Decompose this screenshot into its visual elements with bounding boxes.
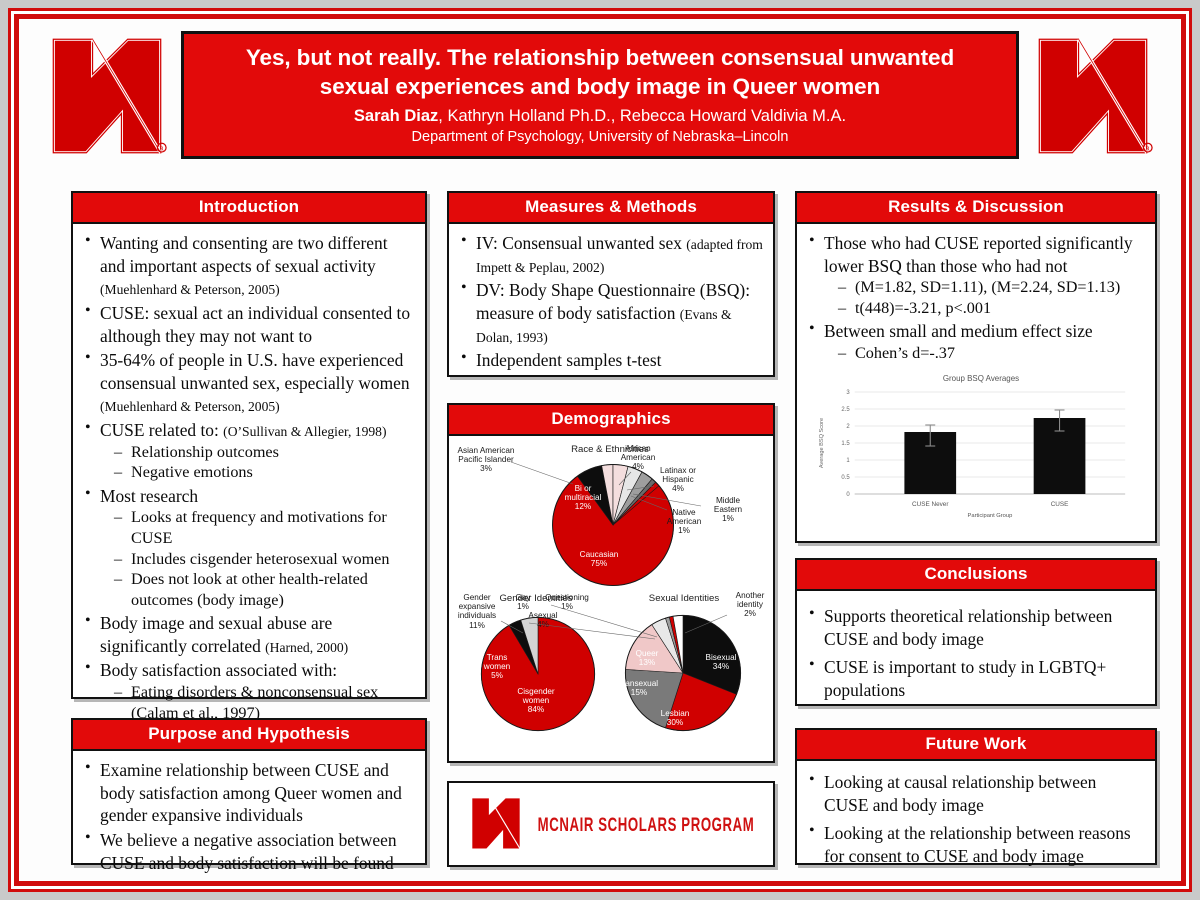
svg-text:3: 3: [846, 390, 850, 396]
poster-title-banner: Yes, but not really. The relationship be…: [181, 31, 1019, 159]
pie-label-questioning: Questioning1%: [541, 593, 593, 611]
list-item: Those who had CUSE reported significantl…: [805, 232, 1145, 318]
author-lead: Sarah Diaz: [354, 107, 438, 125]
panel-results-discussion: Results & Discussion Those who had CUSE …: [795, 191, 1157, 543]
list-item: Looking at causal relationship between C…: [805, 771, 1145, 816]
poster-inner-frame: R Yes, but not really. The relationship …: [14, 14, 1186, 886]
sub-list-item: t(448)=-3.21, p<.001: [838, 298, 1145, 319]
authors-rest: , Kathryn Holland Ph.D., Rebecca Howard …: [438, 107, 846, 125]
bullet-text: Body satisfaction associated with:: [100, 660, 337, 680]
introduction-heading: Introduction: [73, 193, 425, 224]
results-heading: Results & Discussion: [797, 193, 1155, 224]
panel-demographics: Demographics Race & Ethnicities: [447, 403, 775, 763]
pie-label-gender-expansive: Gender expansive individuals11%: [449, 593, 505, 630]
chart-title: Group BSQ Averages: [943, 374, 1019, 383]
list-item: CUSE is important to study in LGBTQ+ pop…: [805, 656, 1145, 701]
poster-department: Department of Psychology, University of …: [198, 128, 1002, 146]
citation: (O’Sullivan & Allegier, 1998): [223, 424, 386, 439]
demographics-heading: Demographics: [449, 405, 773, 436]
svg-text:1.5: 1.5: [841, 441, 850, 447]
conclusions-heading: Conclusions: [797, 560, 1155, 591]
sub-list: Relationship outcomes Negative emotions: [114, 442, 415, 483]
mcnair-program-text: MCNAIR SCHOLARS PROGRAM: [538, 813, 755, 835]
sub-list-item: Includes cisgender heterosexual women: [114, 549, 415, 570]
list-item: Examine relationship between CUSE and bo…: [81, 759, 415, 827]
chart-sexual-identities: Sexual Identities: [599, 591, 775, 746]
svg-text:0: 0: [846, 492, 850, 498]
panel-sponsor-logo: MCNAIR SCHOLARS PROGRAM: [447, 781, 775, 867]
purpose-list: Examine relationship between CUSE and bo…: [81, 759, 415, 874]
pie-label-bisexual: Bisexual34%: [699, 653, 743, 671]
sub-list-item: Relationship outcomes: [114, 442, 415, 463]
sub-list: Looks at frequency and motivations for C…: [114, 507, 415, 610]
measures-list: IV: Consensual unwanted sex (adapted fro…: [457, 232, 763, 372]
conclusions-list: Supports theoretical relationship betwee…: [805, 605, 1145, 702]
poster-header: R Yes, but not really. The relationship …: [23, 31, 1177, 179]
list-item: Independent samples t-test: [457, 349, 763, 372]
pie-label-latinax: Latinax or Hispanic4%: [645, 466, 711, 494]
bullet-text: Wanting and consenting are two different…: [100, 233, 388, 276]
pie-label-gay: Gay1%: [503, 593, 543, 611]
svg-text:1: 1: [846, 458, 850, 464]
poster-canvas: R Yes, but not really. The relationship …: [23, 23, 1177, 877]
list-item: CUSE: sexual act an individual consented…: [81, 302, 415, 347]
pie-label-trans-women: Trans women5%: [473, 653, 521, 681]
nebraska-n-logo-right: R: [1031, 33, 1155, 159]
bar-chart-svg: Group BSQ Averages 3 2.5 2 1.5: [797, 368, 1155, 520]
pie-label-another-identity: Another identity2%: [727, 591, 773, 619]
list-item: Body image and sexual abuse are signific…: [81, 612, 415, 657]
future-work-heading: Future Work: [797, 730, 1155, 761]
pie-label-queer: Queer13%: [627, 649, 667, 667]
conclusions-body: Supports theoretical relationship betwee…: [797, 591, 1155, 712]
pie-label-asian-api: Asian American Pacific Islander3%: [455, 446, 517, 474]
results-list: Those who had CUSE reported significantl…: [805, 232, 1145, 364]
bullet-text: CUSE related to:: [100, 420, 223, 440]
panel-future-work: Future Work Looking at causal relationsh…: [795, 728, 1157, 865]
future-work-body: Looking at causal relationship between C…: [797, 761, 1155, 878]
bullet-text: Those who had CUSE reported significantl…: [824, 233, 1133, 276]
list-item: Supports theoretical relationship betwee…: [805, 605, 1145, 650]
chart-group-bsq-averages: Group BSQ Averages 3 2.5 2 1.5: [797, 368, 1155, 520]
sub-list: Cohen’s d=-.37: [838, 343, 1145, 364]
sub-list-item: Cohen’s d=-.37: [838, 343, 1145, 364]
list-item: Body satisfaction associated with: Eatin…: [81, 659, 415, 723]
pie-label-bi-multiracial: Bi or multiracial12%: [561, 484, 605, 512]
svg-text:Average BSQ Score: Average BSQ Score: [819, 417, 825, 467]
poster-authors: Sarah Diaz, Kathryn Holland Ph.D., Rebec…: [198, 106, 1002, 127]
svg-text:2.5: 2.5: [841, 407, 850, 413]
bullet-text: Independent samples t-test: [476, 350, 661, 370]
sub-list-item: Negative emotions: [114, 462, 415, 483]
citation: (Harned, 2000): [265, 640, 348, 655]
list-item: Wanting and consenting are two different…: [81, 232, 415, 300]
sub-list-item: Looks at frequency and motivations for C…: [114, 507, 415, 548]
pie-label-asexual: Asexual4%: [521, 611, 565, 629]
list-item: Most research Looks at frequency and mot…: [81, 485, 415, 610]
chart-race-ethnicities: Race & Ethnicities: [449, 440, 773, 600]
chart-title: Sexual Identities: [631, 593, 737, 604]
future-work-list: Looking at causal relationship between C…: [805, 771, 1145, 868]
pie-label-caucasian: Caucasian75%: [571, 550, 627, 568]
results-body: Those who had CUSE reported significantl…: [797, 224, 1155, 368]
panel-conclusions: Conclusions Supports theoretical relatio…: [795, 558, 1157, 706]
bullet-text: CUSE: sexual act an individual consented…: [100, 303, 410, 346]
mcnair-logo-group: MCNAIR SCHOLARS PROGRAM: [449, 783, 773, 865]
svg-text:CUSE Never: CUSE Never: [912, 501, 949, 508]
list-item: 35-64% of people in U.S. have experience…: [81, 349, 415, 417]
svg-text:2: 2: [846, 424, 850, 430]
measures-heading: Measures & Methods: [449, 193, 773, 224]
poster-title-line1: Yes, but not really. The relationship be…: [198, 43, 1002, 72]
panel-purpose-hypothesis: Purpose and Hypothesis Examine relations…: [71, 718, 427, 865]
sub-list: (M=1.82, SD=1.11), (M=2.24, SD=1.13) t(4…: [838, 277, 1145, 318]
list-item: Looking at the relationship between reas…: [805, 822, 1145, 867]
pie-label-cisgender-women: Cisgender women84%: [511, 687, 561, 715]
purpose-body: Examine relationship between CUSE and bo…: [73, 751, 425, 884]
panel-measures-methods: Measures & Methods IV: Consensual unwant…: [447, 191, 775, 377]
list-item: Between small and medium effect size Coh…: [805, 320, 1145, 363]
sub-list-item: Does not look at other health-related ou…: [114, 569, 415, 610]
panel-introduction: Introduction Wanting and consenting are …: [71, 191, 427, 699]
bullet-text: 35-64% of people in U.S. have experience…: [100, 350, 410, 393]
list-item: DV: Body Shape Questionnaire (BSQ): meas…: [457, 279, 763, 347]
svg-text:CUSE: CUSE: [1051, 501, 1069, 508]
bullet-text: Most research: [100, 486, 198, 506]
pie-label-native-american: Native American1%: [657, 508, 711, 536]
list-item: IV: Consensual unwanted sex (adapted fro…: [457, 232, 763, 277]
poster-title-line2: sexual experiences and body image in Que…: [198, 72, 1002, 101]
bullet-text: Between small and medium effect size: [824, 321, 1093, 341]
measures-body: IV: Consensual unwanted sex (adapted fro…: [449, 224, 773, 382]
demographics-figures: Race & Ethnicities: [449, 436, 773, 748]
svg-text:0.5: 0.5: [841, 475, 850, 481]
bullet-text: IV: Consensual unwanted sex: [476, 233, 686, 253]
citation: (Muehlenhard & Peterson, 2005): [100, 399, 280, 414]
citation: (Muehlenhard & Peterson, 2005): [100, 282, 280, 297]
svg-text:Participant Group: Participant Group: [968, 513, 1013, 519]
nebraska-n-logo-left: R: [45, 33, 169, 159]
pie-label-lesbian: Lesbian30%: [653, 709, 697, 727]
introduction-list: Wanting and consenting are two different…: [81, 232, 415, 723]
purpose-heading: Purpose and Hypothesis: [73, 720, 425, 751]
pie-label-pansexual: Pansexual15%: [615, 679, 663, 697]
sub-list-item: (M=1.82, SD=1.11), (M=2.24, SD=1.13): [838, 277, 1145, 298]
list-item: CUSE related to: (O’Sullivan & Allegier,…: [81, 419, 415, 483]
list-item: We believe a negative association betwee…: [81, 829, 415, 874]
introduction-body: Wanting and consenting are two different…: [73, 224, 425, 733]
nebraska-n-logo-sponsor: [468, 795, 524, 853]
poster-outer-frame: R Yes, but not really. The relationship …: [8, 8, 1192, 892]
